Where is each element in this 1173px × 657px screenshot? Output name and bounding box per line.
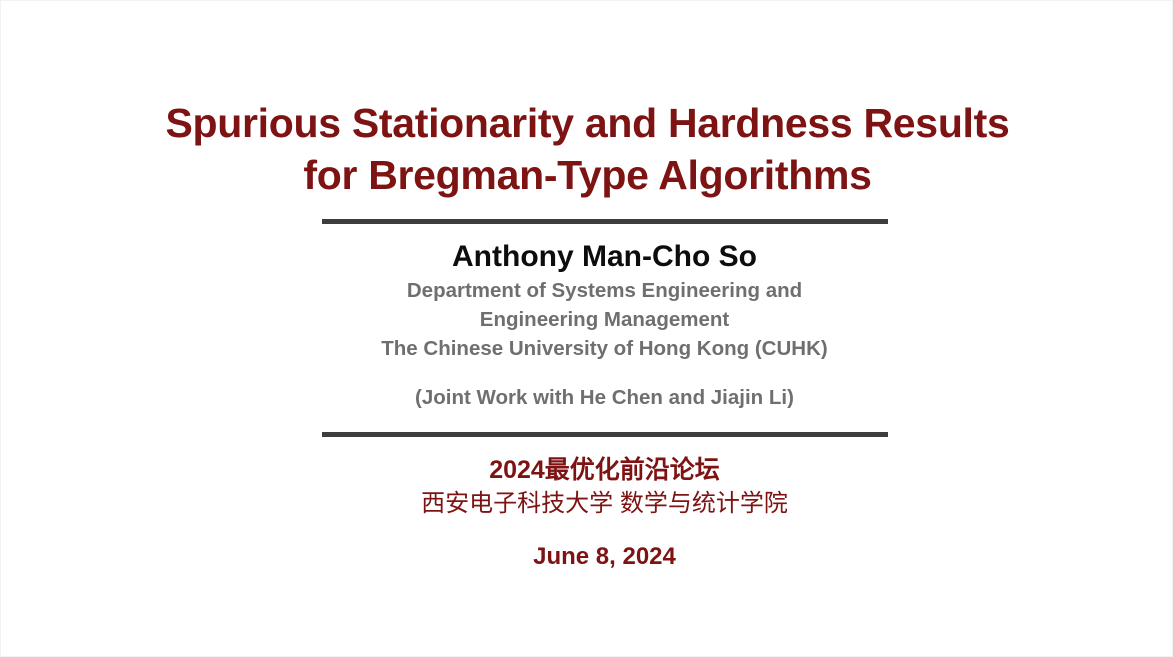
divider-bottom — [322, 432, 888, 437]
title-line-1: Spurious Stationarity and Hardness Resul… — [108, 97, 1068, 149]
joint-work-note: (Joint Work with He Chen and Jiajin Li) — [275, 383, 935, 412]
affiliation-line-2: Engineering Management — [275, 305, 935, 334]
affiliation-line-1: Department of Systems Engineering and — [275, 276, 935, 305]
affiliation-line-3: The Chinese University of Hong Kong (CUH… — [275, 334, 935, 363]
event-date: June 8, 2024 — [275, 541, 935, 573]
slide-content: Spurious Stationarity and Hardness Resul… — [1, 1, 1173, 657]
event-block: 2024最优化前沿论坛 西安电子科技大学 数学与统计学院 June 8, 202… — [275, 453, 935, 573]
event-name: 2024最优化前沿论坛 — [275, 453, 935, 487]
slide-title: Spurious Stationarity and Hardness Resul… — [108, 97, 1068, 201]
divider-top — [322, 219, 888, 224]
author-name: Anthony Man-Cho So — [275, 238, 935, 276]
event-host: 西安电子科技大学 数学与统计学院 — [275, 487, 935, 521]
title-line-2: for Bregman-Type Algorithms — [108, 149, 1068, 201]
author-block: Anthony Man-Cho So Department of Systems… — [275, 238, 935, 412]
presentation-slide: Spurious Stationarity and Hardness Resul… — [0, 0, 1173, 657]
